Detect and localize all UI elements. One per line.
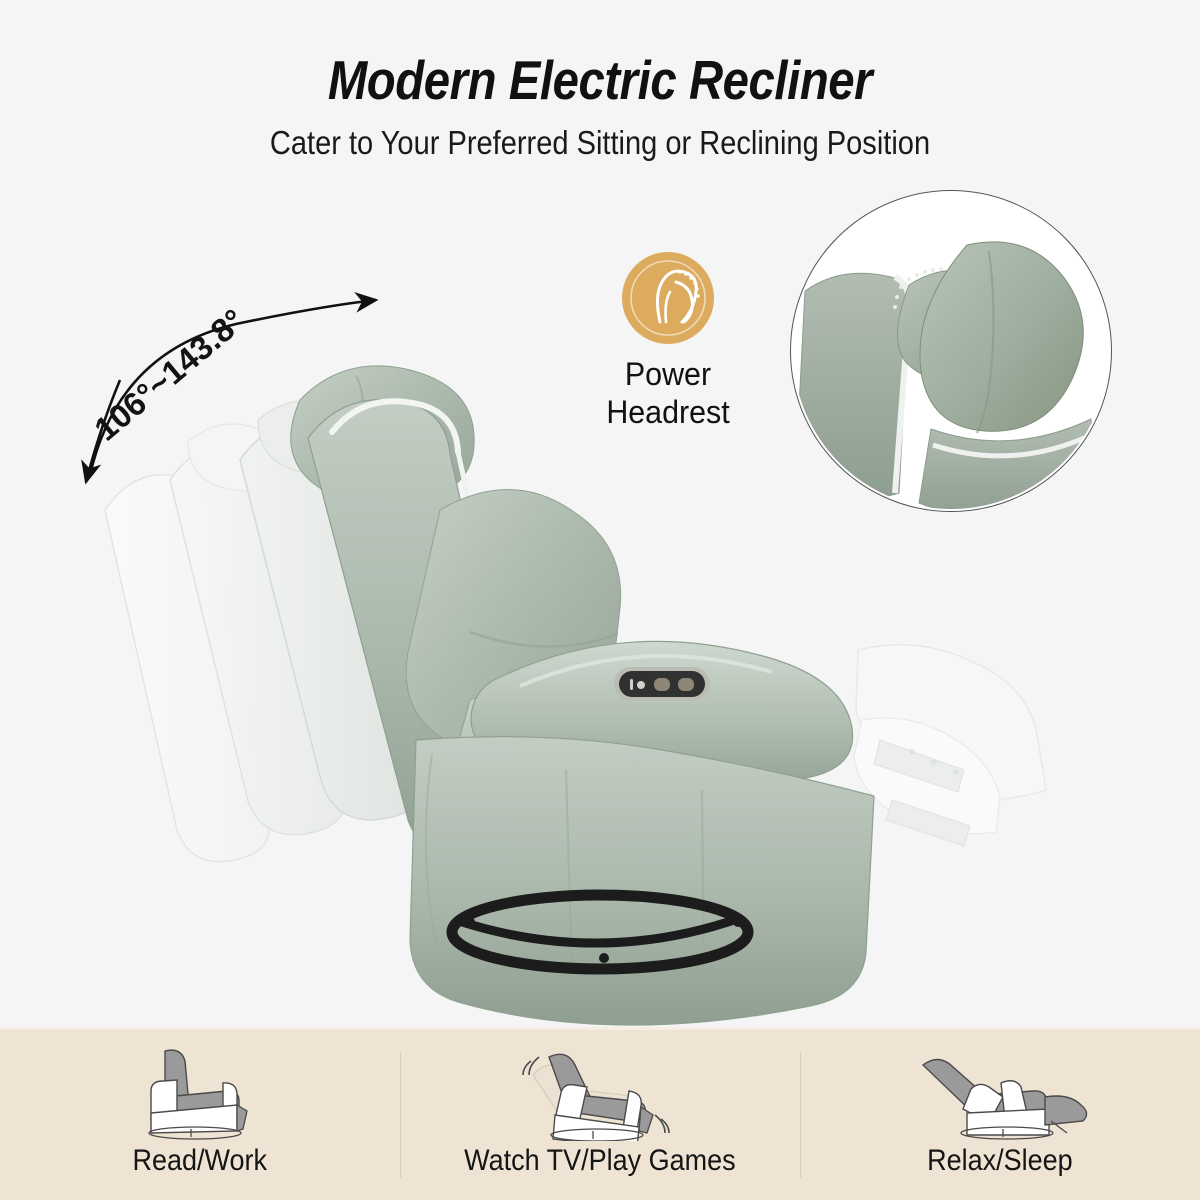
chair-body xyxy=(410,737,874,1025)
usage-mode-label: Read/Work xyxy=(133,1144,268,1178)
power-headrest-label: Power Headrest xyxy=(573,356,763,432)
page-subtitle: Cater to Your Preferred Sitting or Recli… xyxy=(72,124,1128,162)
control-panel[interactable] xyxy=(614,667,710,701)
product-stage: 106°~143.8° xyxy=(0,180,1200,1030)
recliner-rocking-icon xyxy=(505,1044,695,1142)
headrest-closeup-inset xyxy=(790,190,1112,512)
infographic-page: Modern Electric Recliner Cater to Your P… xyxy=(0,0,1200,1200)
usage-modes-bar: Read/Work xyxy=(0,1027,1200,1200)
usage-mode-label: Watch TV/Play Games xyxy=(464,1144,736,1178)
recline-angle-annotation: 106°~143.8° xyxy=(60,260,420,520)
ghost-footrest xyxy=(854,645,1046,846)
power-headrest-label-line2: Headrest xyxy=(573,394,763,432)
headrest-closeup-photo xyxy=(791,191,1111,511)
usage-mode-label: Relax/Sleep xyxy=(927,1144,1073,1178)
curved-double-arrow-icon xyxy=(60,260,420,520)
recliner-flat-icon xyxy=(905,1044,1095,1142)
usage-mode-relax-sleep[interactable]: Relax/Sleep xyxy=(800,1030,1200,1200)
power-headrest-feature: Power Headrest xyxy=(568,252,768,432)
usage-mode-read-work[interactable]: Read/Work xyxy=(0,1030,400,1200)
header: Modern Electric Recliner Cater to Your P… xyxy=(0,0,1200,180)
power-headrest-icon xyxy=(622,252,714,344)
recliner-upright-icon xyxy=(115,1044,285,1142)
page-title: Modern Electric Recliner xyxy=(84,52,1116,110)
power-headrest-label-line1: Power xyxy=(573,356,763,394)
usage-mode-watch-tv[interactable]: Watch TV/Play Games xyxy=(400,1030,800,1200)
